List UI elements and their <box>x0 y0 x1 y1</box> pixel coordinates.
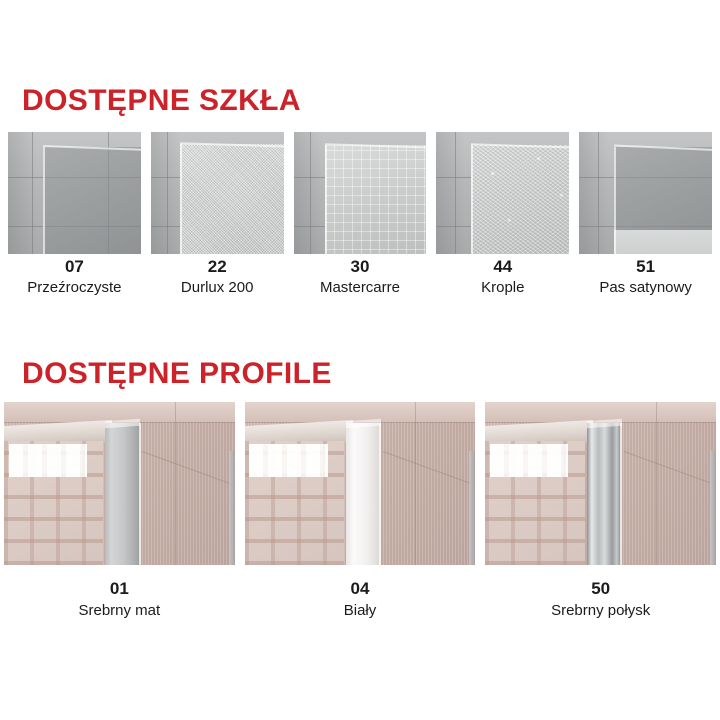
glass-name: Durlux 200 <box>151 278 284 297</box>
glass-panel <box>614 147 712 254</box>
profile-sample-01[interactable] <box>4 402 235 565</box>
glass-code: 07 <box>8 256 141 278</box>
glass-name: Przeźroczyste <box>8 278 141 297</box>
glass-panel <box>325 145 426 254</box>
satin-band <box>614 230 712 254</box>
profile-name: Srebrny mat <box>4 601 235 621</box>
profile-bar-matte-silver <box>105 423 140 565</box>
ceiling <box>245 402 476 422</box>
window-reflection <box>9 444 87 477</box>
profile-sample-50[interactable] <box>485 402 716 565</box>
glass-code: 30 <box>294 256 427 278</box>
glass-code: 22 <box>151 256 284 278</box>
profile-sample-04[interactable] <box>245 402 476 565</box>
glass-name: Mastercarre <box>294 278 427 297</box>
product-options-page: DOSTĘPNE SZKŁA <box>0 0 720 720</box>
profile-sample-strip <box>4 402 716 565</box>
glass-sample-07[interactable] <box>8 132 141 254</box>
grout-line <box>310 132 311 254</box>
glass-label-22: 22 Durlux 200 <box>151 256 284 297</box>
secondary-profile-strip <box>710 451 716 565</box>
window-reflection <box>249 444 327 477</box>
glass-label-30: 30 Mastercarre <box>294 256 427 297</box>
profile-name: Biały <box>245 601 476 621</box>
glass-edge-vertical <box>471 145 473 254</box>
profile-code: 01 <box>4 578 235 601</box>
glass-edge-vertical <box>614 147 616 254</box>
grout-line <box>455 132 456 254</box>
grout-line <box>32 132 33 254</box>
glass-code: 44 <box>436 256 569 278</box>
wall-seam <box>415 402 416 565</box>
profile-bar-polished-silver <box>587 423 622 565</box>
glass-name: Krople <box>436 278 569 297</box>
glass-panel <box>471 145 569 254</box>
glass-sample-51[interactable] <box>579 132 712 254</box>
profile-code: 04 <box>245 578 476 601</box>
profile-edge-highlight <box>379 423 381 565</box>
profile-code: 50 <box>485 578 716 601</box>
glass-sample-44[interactable] <box>436 132 569 254</box>
wall-seam <box>656 402 657 565</box>
window-reflection <box>490 444 568 477</box>
profile-edge-highlight <box>620 423 622 565</box>
glass-label-51: 51 Pas satynowy <box>579 256 712 297</box>
grout-line <box>598 132 599 254</box>
ceiling <box>4 402 235 422</box>
glass-sample-30[interactable] <box>294 132 427 254</box>
glass-panel <box>180 144 284 254</box>
profile-edge-highlight <box>139 423 141 565</box>
profile-bar-white <box>346 423 381 565</box>
glass-sample-22[interactable] <box>151 132 284 254</box>
glass-name: Pas satynowy <box>579 278 712 297</box>
profile-label-01: 01 Srebrny mat <box>4 578 235 621</box>
wall-seam <box>175 402 176 565</box>
profile-name: Srebrny połysk <box>485 601 716 621</box>
glass-edge-vertical <box>43 147 45 254</box>
profile-label-50: 50 Srebrny połysk <box>485 578 716 621</box>
secondary-profile-strip <box>469 451 475 565</box>
glass-label-07: 07 Przeźroczyste <box>8 256 141 297</box>
ceiling <box>485 402 716 422</box>
glass-edge-vertical <box>180 144 182 254</box>
glass-label-44: 44 Krople <box>436 256 569 297</box>
profile-section-heading: DOSTĘPNE PROFILE <box>22 357 332 391</box>
glass-code: 51 <box>579 256 712 278</box>
profile-label-row: 01 Srebrny mat 04 Biały 50 Srebrny połys… <box>4 578 716 621</box>
glass-panel <box>43 147 141 254</box>
grout-line <box>167 132 168 254</box>
glass-section-heading: DOSTĘPNE SZKŁA <box>22 84 301 118</box>
glass-sample-strip <box>8 132 712 254</box>
glass-label-row: 07 Przeźroczyste 22 Durlux 200 30 Master… <box>8 256 712 297</box>
profile-label-04: 04 Biały <box>245 578 476 621</box>
secondary-profile-strip <box>229 451 235 565</box>
glass-edge-vertical <box>325 145 327 254</box>
